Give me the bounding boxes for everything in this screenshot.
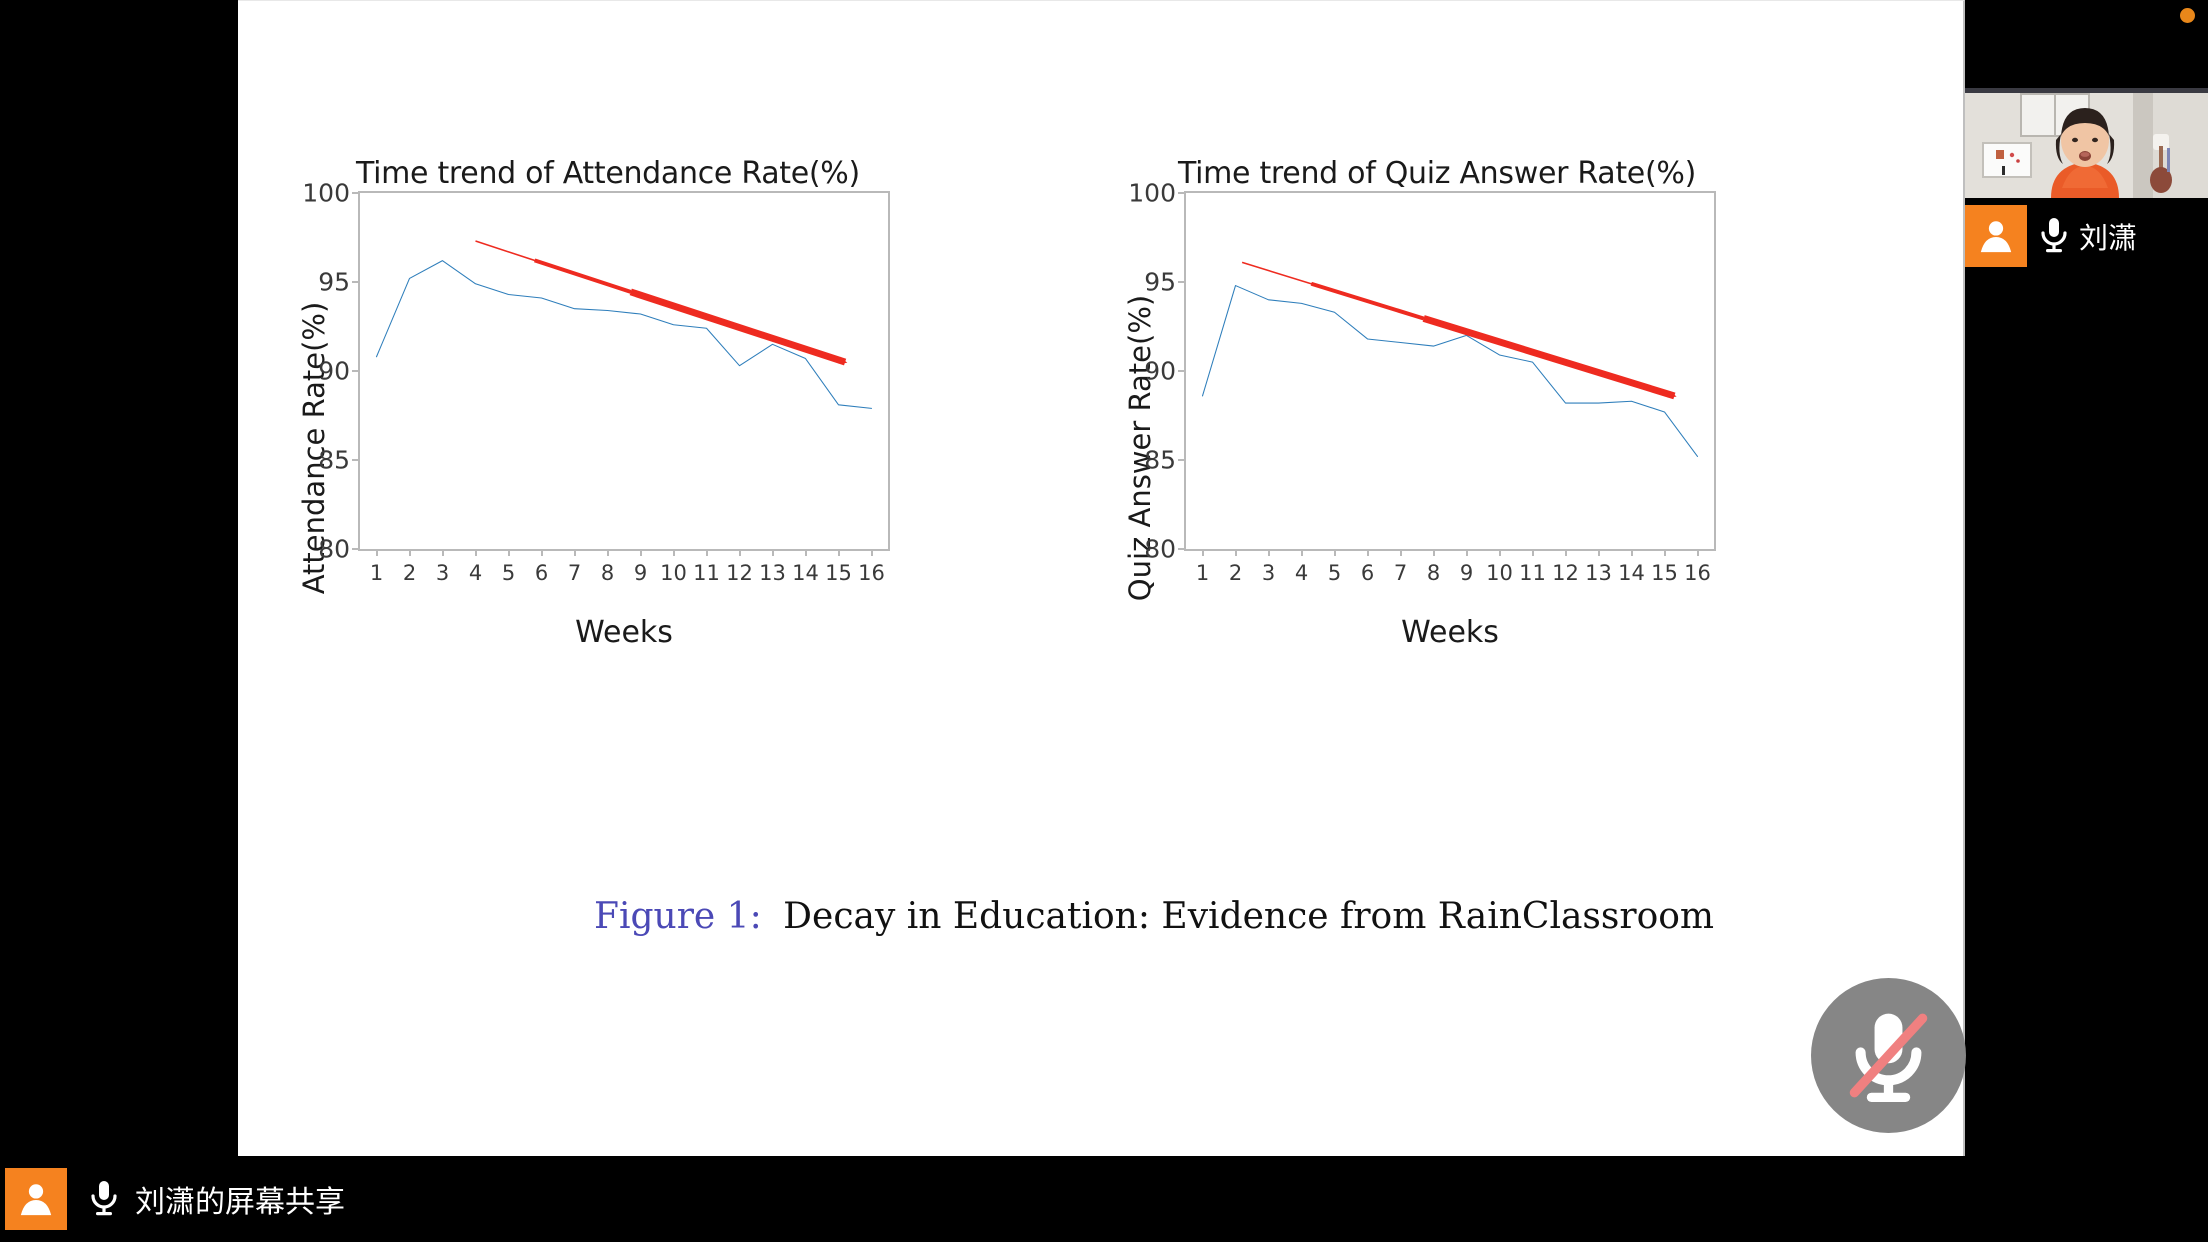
figure-area: Time trend of Attendance Rate(%) Attenda… xyxy=(238,1,1963,1178)
x-tick-label: 10 xyxy=(660,561,687,585)
x-tick-mark xyxy=(1499,549,1501,556)
shared-screen-slide[interactable]: Time trend of Attendance Rate(%) Attenda… xyxy=(238,0,1965,1178)
mute-toggle-button[interactable] xyxy=(1811,978,1966,1133)
x-tick-label: 13 xyxy=(1585,561,1612,585)
x-tick-mark xyxy=(574,549,576,556)
plot-area-quiz: 100 95 90 85 80 1 2 3 4 xyxy=(1184,191,1716,551)
x-tick-label: 11 xyxy=(693,561,720,585)
y-tick-label: 85 xyxy=(318,446,350,475)
x-tick-label: 6 xyxy=(535,561,548,585)
x-tick-mark xyxy=(1235,549,1237,556)
figure-caption: Figure 1: Decay in Education: Evidence f… xyxy=(594,896,1714,937)
x-tick-label: 2 xyxy=(403,561,416,585)
y-tick-mark xyxy=(1178,548,1186,550)
microphone-icon xyxy=(89,1178,119,1220)
webcam-video-frame xyxy=(1965,88,2208,198)
x-tick-mark xyxy=(1301,549,1303,556)
participant-video-thumbnail[interactable] xyxy=(1965,88,2208,198)
chart-quiz-answer-rate: Time trend of Quiz Answer Rate(%) Quiz A… xyxy=(1064,1,1924,821)
x-tick-mark xyxy=(1268,549,1270,556)
figure-number: Figure 1: xyxy=(594,896,762,937)
y-tick-label: 80 xyxy=(318,535,350,564)
x-tick-mark xyxy=(376,549,378,556)
x-tick-mark xyxy=(772,549,774,556)
x-tick-label: 16 xyxy=(858,561,885,585)
x-tick-mark xyxy=(706,549,708,556)
screen-share-label: 刘潇的屏幕共享 xyxy=(135,1177,345,1221)
x-tick-label: 5 xyxy=(502,561,515,585)
y-tick-label: 95 xyxy=(318,268,350,297)
y-tick-label: 90 xyxy=(1144,357,1176,386)
downward-trend-arrow-quiz xyxy=(1242,262,1674,396)
figure-caption-text: Decay in Education: Evidence from RainCl… xyxy=(783,896,1714,937)
attendance-arrow-svg xyxy=(360,193,888,549)
y-tick-mark xyxy=(1178,459,1186,461)
x-tick-label: 11 xyxy=(1519,561,1546,585)
y-tick-label: 95 xyxy=(1144,268,1176,297)
x-tick-mark xyxy=(1631,549,1633,556)
chart-attendance-rate: Time trend of Attendance Rate(%) Attenda… xyxy=(238,1,1098,821)
x-tick-label: 14 xyxy=(792,561,819,585)
x-tick-mark xyxy=(1400,549,1402,556)
x-tick-label: 15 xyxy=(825,561,852,585)
participant-nameplate: 刘潇 xyxy=(1965,200,2208,272)
y-tick-mark xyxy=(1178,370,1186,372)
participant-name-label: 刘潇 xyxy=(2079,215,2137,257)
x-tick-mark xyxy=(838,549,840,556)
x-tick-mark xyxy=(871,549,873,556)
x-tick-mark xyxy=(475,549,477,556)
microphone-icon xyxy=(2039,215,2069,257)
x-tick-mark xyxy=(805,549,807,556)
y-tick-mark xyxy=(352,281,360,283)
x-axis-label-quiz: Weeks xyxy=(1401,615,1499,650)
x-tick-mark xyxy=(607,549,609,556)
quiz-arrow-svg xyxy=(1186,193,1714,549)
y-tick-label: 80 xyxy=(1144,535,1176,564)
x-tick-label: 10 xyxy=(1486,561,1513,585)
x-tick-label: 1 xyxy=(370,561,383,585)
x-tick-mark xyxy=(1202,549,1204,556)
x-tick-mark xyxy=(1565,549,1567,556)
y-tick-label: 85 xyxy=(1144,446,1176,475)
x-tick-mark xyxy=(739,549,741,556)
x-tick-label: 15 xyxy=(1651,561,1678,585)
x-tick-mark xyxy=(1697,549,1699,556)
x-tick-mark xyxy=(1334,549,1336,556)
x-tick-label: 12 xyxy=(726,561,753,585)
y-tick-mark xyxy=(1178,281,1186,283)
microphone-muted-icon xyxy=(1811,978,1966,1133)
y-tick-mark xyxy=(352,548,360,550)
x-tick-label: 12 xyxy=(1552,561,1579,585)
x-tick-mark xyxy=(409,549,411,556)
y-tick-mark xyxy=(352,459,360,461)
y-tick-mark xyxy=(352,192,360,194)
x-tick-mark xyxy=(1433,549,1435,556)
x-axis-label-attendance: Weeks xyxy=(575,615,673,650)
x-tick-mark xyxy=(541,549,543,556)
x-tick-label: 3 xyxy=(1262,561,1275,585)
person-avatar-icon xyxy=(5,1168,67,1230)
downward-trend-arrow-attendance xyxy=(476,241,846,362)
x-tick-label: 9 xyxy=(1460,561,1473,585)
x-tick-label: 8 xyxy=(1427,561,1440,585)
screen-share-status-bar: 刘潇的屏幕共享 xyxy=(0,1156,2208,1242)
x-tick-label: 7 xyxy=(568,561,581,585)
x-tick-label: 7 xyxy=(1394,561,1407,585)
x-tick-label: 3 xyxy=(436,561,449,585)
x-tick-label: 4 xyxy=(469,561,482,585)
zoom-meeting-window: Time trend of Attendance Rate(%) Attenda… xyxy=(0,0,2208,1242)
x-tick-label: 1 xyxy=(1196,561,1209,585)
x-tick-label: 2 xyxy=(1229,561,1242,585)
x-tick-mark xyxy=(442,549,444,556)
x-tick-label: 8 xyxy=(601,561,614,585)
x-tick-mark xyxy=(1598,549,1600,556)
recording-dot-icon xyxy=(2180,8,2195,23)
y-tick-mark xyxy=(352,370,360,372)
x-tick-mark xyxy=(640,549,642,556)
y-tick-mark xyxy=(1178,192,1186,194)
participant-video-panel[interactable]: 刘潇 xyxy=(1965,0,2208,312)
person-avatar-icon xyxy=(1965,205,2027,267)
x-tick-mark xyxy=(1532,549,1534,556)
x-tick-label: 13 xyxy=(759,561,786,585)
plot-area-attendance: 100 95 90 85 80 1 2 3 xyxy=(358,191,890,551)
y-tick-label: 100 xyxy=(302,179,350,208)
x-tick-mark xyxy=(508,549,510,556)
x-tick-mark xyxy=(1367,549,1369,556)
x-tick-mark xyxy=(1466,549,1468,556)
x-tick-mark xyxy=(673,549,675,556)
x-tick-label: 6 xyxy=(1361,561,1374,585)
y-tick-label: 100 xyxy=(1128,179,1176,208)
x-tick-mark xyxy=(1664,549,1666,556)
x-tick-label: 9 xyxy=(634,561,647,585)
x-tick-label: 16 xyxy=(1684,561,1711,585)
x-tick-label: 4 xyxy=(1295,561,1308,585)
chart-title-quiz: Time trend of Quiz Answer Rate(%) xyxy=(1178,156,1696,191)
x-tick-label: 5 xyxy=(1328,561,1341,585)
chart-title-attendance: Time trend of Attendance Rate(%) xyxy=(356,156,860,191)
x-tick-label: 14 xyxy=(1618,561,1645,585)
y-tick-label: 90 xyxy=(318,357,350,386)
